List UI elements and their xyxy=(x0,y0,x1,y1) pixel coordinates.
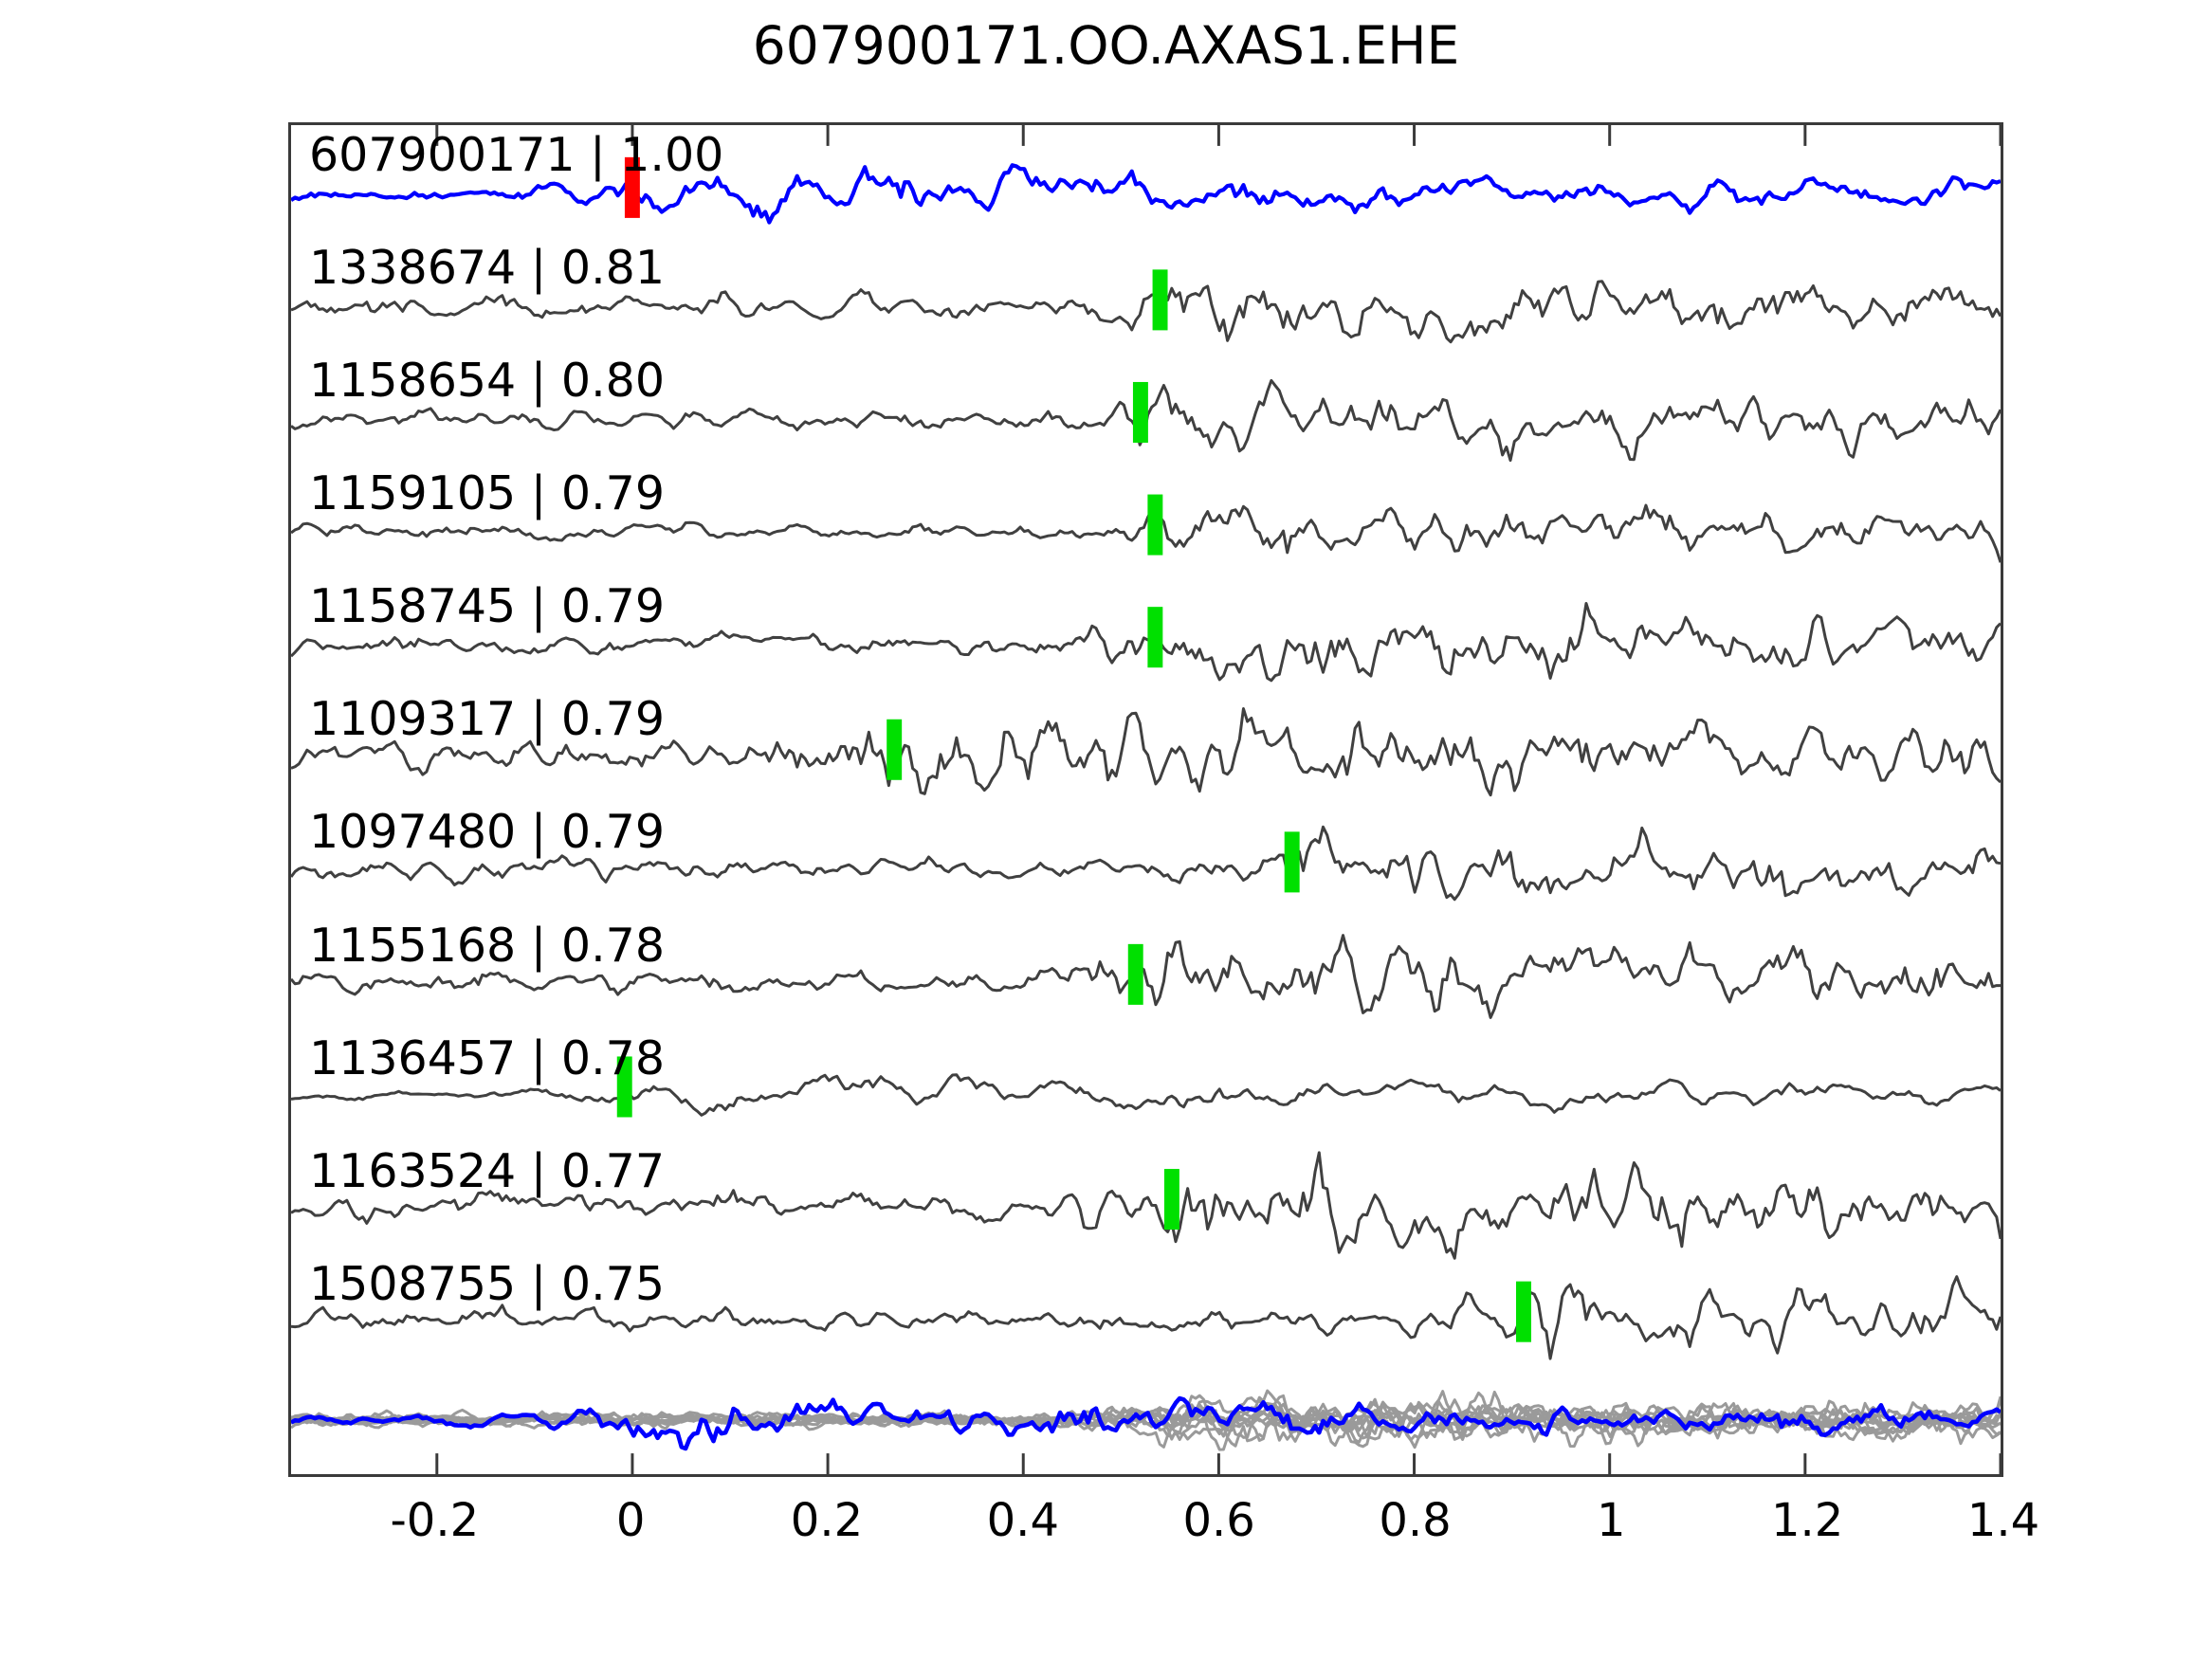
plot-area[interactable] xyxy=(288,122,2003,1477)
pick-marker-1155168[interactable] xyxy=(1128,944,1143,1005)
pick-marker-1159105[interactable] xyxy=(1147,495,1162,556)
waveform-trace-607900171 xyxy=(291,165,2001,222)
waveform-trace-1158745 xyxy=(291,603,2001,680)
waveform-figure: 607900171.OO.AXAS1.EHE 607900171 | 1.001… xyxy=(0,0,2212,1659)
pick-marker-607900171[interactable] xyxy=(625,157,640,218)
waveform-canvas xyxy=(291,125,2001,1474)
pick-marker-1338674[interactable] xyxy=(1153,269,1168,330)
x-tick-label: 0.4 xyxy=(987,1494,1059,1547)
waveform-trace-1155168 xyxy=(291,936,2001,1018)
x-axis: -0.200.20.40.60.811.21.4 xyxy=(288,1477,2003,1591)
pick-marker-1136457[interactable] xyxy=(617,1056,632,1117)
x-tick-label: 0.6 xyxy=(1182,1494,1254,1547)
x-tick-label: 0.2 xyxy=(791,1494,863,1547)
waveform-trace-1163524 xyxy=(291,1153,2001,1258)
waveform-trace-1338674 xyxy=(291,282,2001,342)
waveform-trace-1159105 xyxy=(291,505,2001,562)
waveform-trace-1109317 xyxy=(291,709,2001,795)
x-tick-label: 0 xyxy=(616,1494,646,1547)
pick-marker-1163524[interactable] xyxy=(1164,1169,1179,1230)
overlay-stack-panel xyxy=(291,1391,2001,1449)
pick-marker-1158745[interactable] xyxy=(1147,607,1162,667)
pick-marker-1508755[interactable] xyxy=(1516,1282,1531,1342)
x-tick-label: 1 xyxy=(1597,1494,1626,1547)
x-tick-label: 1.2 xyxy=(1771,1494,1843,1547)
x-tick-label: 1.4 xyxy=(1967,1494,2039,1547)
waveform-trace-1508755 xyxy=(291,1277,2001,1358)
x-tick-label: -0.2 xyxy=(390,1494,479,1547)
waveform-trace-1136457 xyxy=(291,1075,2001,1116)
waveform-trace-1097480 xyxy=(291,827,2001,899)
page-title: 607900171.OO.AXAS1.EHE xyxy=(0,15,2212,76)
pick-marker-1109317[interactable] xyxy=(887,720,902,780)
pick-marker-1097480[interactable] xyxy=(1285,831,1300,892)
x-tick-label: 0.8 xyxy=(1379,1494,1451,1547)
pick-marker-1158654[interactable] xyxy=(1133,382,1148,443)
